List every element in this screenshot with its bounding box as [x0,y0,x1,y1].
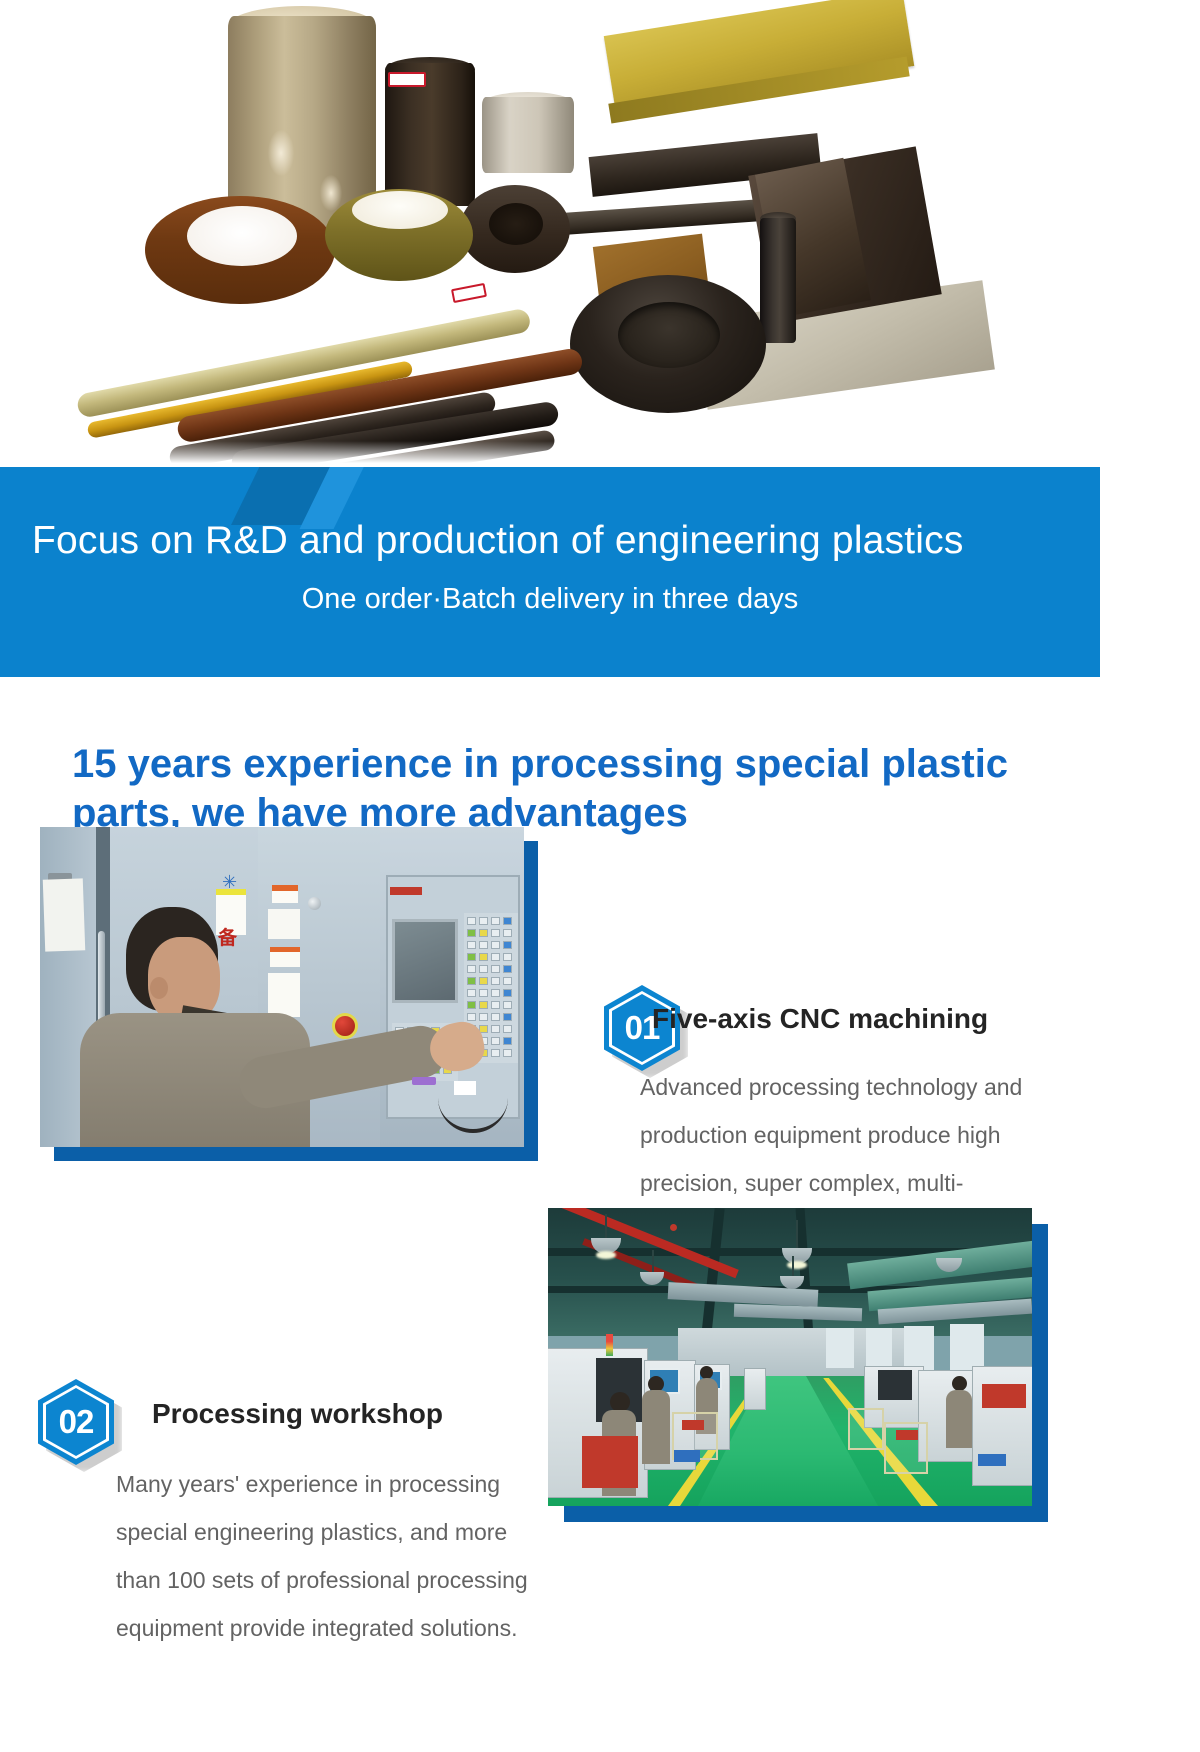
cnc-emergency-stop-button [332,1013,358,1039]
workshop-machine-red-panel [982,1384,1026,1408]
cnc-keypad-key [503,1025,512,1033]
cnc-warning-sticker-3 [268,909,300,939]
workshop-lamp-stem-1 [605,1214,607,1240]
cnc-keypad-key [467,941,476,949]
cnc-keypad-key [491,965,500,973]
workshop-blue-bin-2 [978,1454,1006,1466]
cnc-keypad-key [503,941,512,949]
product-gold-ring-hole [352,191,448,229]
product-rod-highlight [268,130,294,176]
workshop-window-1 [826,1328,854,1368]
cnc-keypad-key [467,953,476,961]
cnc-keypad-key [503,1001,512,1009]
feature-02-body: Many years' experience in processing spe… [116,1460,536,1652]
cnc-warning-sticker-5 [268,973,300,1017]
cnc-keypad-key [491,989,500,997]
workshop-lamp-stem-2 [652,1250,654,1274]
cnc-keypad-key [467,965,476,973]
cnc-keypad-key [467,977,476,985]
cnc-brand-badge [390,887,422,895]
hero-product-stage [0,0,1200,467]
cnc-paper-sheet [43,878,85,951]
cnc-keypad-key [479,953,488,961]
cnc-keypad-key [479,1001,488,1009]
cnc-keypad-key [479,941,488,949]
cnc-operator-ear [150,977,168,999]
workshop-lamp-glow-3 [787,1261,807,1269]
workshop-rack-3 [848,1408,884,1450]
cnc-keypad-key [503,1037,512,1045]
cnc-indicator-purple [412,1077,436,1085]
cnc-machine-photo: ✳ 备 [40,827,524,1147]
cnc-warning-sticker-4 [270,947,300,967]
workshop-smoke-detector [670,1224,677,1231]
feature-02-title: Processing workshop [152,1398,443,1430]
cnc-warning-sticker-2 [272,885,298,903]
section-headline: 15 years experience in processing specia… [72,740,1092,838]
workshop-window-2 [866,1328,892,1368]
cnc-keypad-key [503,1013,512,1021]
workshop-window-4 [950,1324,984,1372]
feature-02-number-badge: 02 [38,1379,114,1465]
cnc-keypad-key [467,917,476,925]
workshop-worker-body-4 [946,1390,972,1448]
workshop-lamp-glow-1 [596,1251,616,1259]
cnc-display-screen [392,919,458,1003]
product-rod-highlight-2 [320,175,342,211]
cnc-keypad-key [479,977,488,985]
tagline-banner: Focus on R&D and production of engineeri… [0,467,1100,677]
cnc-keypad-key [491,941,500,949]
cnc-keypad-key [491,929,500,937]
product-black-cylinder [760,218,796,343]
workshop-blue-bin-1 [674,1450,700,1462]
cnc-keypad-key [491,1025,500,1033]
cnc-keypad-key [479,917,488,925]
cnc-keypad-key [467,929,476,937]
feature-02-image [548,1208,1032,1506]
cnc-keypad-key [491,1049,500,1057]
cnc-keypad-key [503,989,512,997]
cnc-panel-knob [308,897,321,910]
workshop-red-cart-1 [582,1436,638,1488]
workshop-signal-tower-1 [606,1334,613,1356]
product-rod-label-tag [451,283,487,303]
workshop-rack-tray-2 [896,1430,918,1440]
product-ptfe-torus-hole [618,302,720,368]
workshop-worker-body-2 [642,1390,670,1464]
cnc-keypad-key [467,989,476,997]
cnc-keypad-key [503,965,512,973]
product-dark-ring-small-hole [489,203,543,245]
workshop-lamp-stem-3 [796,1220,798,1250]
cnc-keypad-key [503,1049,512,1057]
workshop-worker-head-4 [952,1376,967,1391]
cnc-keypad-key [491,1013,500,1021]
cnc-keypad-key [491,917,500,925]
banner-title: Focus on R&D and production of engineeri… [32,519,1072,563]
cnc-keypad-key [491,1037,500,1045]
product-white-disc [482,97,574,173]
workshop-machine-window-2 [878,1370,912,1400]
workshop-worker-head-1 [610,1392,630,1412]
cnc-keypad-key [467,1001,476,1009]
cnc-keypad-key [491,977,500,985]
workshop-lamp-stem-4 [792,1256,794,1278]
cnc-keypad-key [479,1013,488,1021]
cnc-keypad-key [491,953,500,961]
feature-01-image: ✳ 备 [40,827,524,1147]
workshop-rack-tray-1 [682,1420,704,1430]
cnc-keypad-key [503,929,512,937]
cnc-red-marking: 备 [218,923,237,950]
workshop-window-3 [904,1326,934,1370]
feature-02-number: 02 [38,1379,114,1465]
workshop-machine-far-1 [744,1368,766,1410]
feature-01-title: Five-axis CNC machining [652,1003,988,1035]
product-label-tag [388,72,426,87]
product-dark-bar-2 [559,199,765,235]
cnc-keypad-key [503,977,512,985]
cnc-keypad-key [479,989,488,997]
cnc-keypad-key [491,1001,500,1009]
cnc-keypad-key [479,965,488,973]
cnc-keypad-key [479,929,488,937]
hero-product-photo [0,0,1200,467]
cnc-keypad-key [467,1013,476,1021]
cnc-keypad-key [503,953,512,961]
cnc-keypad-key [503,917,512,925]
product-brown-ring-hole [187,206,297,266]
workshop-photo [548,1208,1032,1506]
hero-bottom-fade [0,441,1200,467]
banner-subtitle: One order·Batch delivery in three days [0,583,1100,616]
